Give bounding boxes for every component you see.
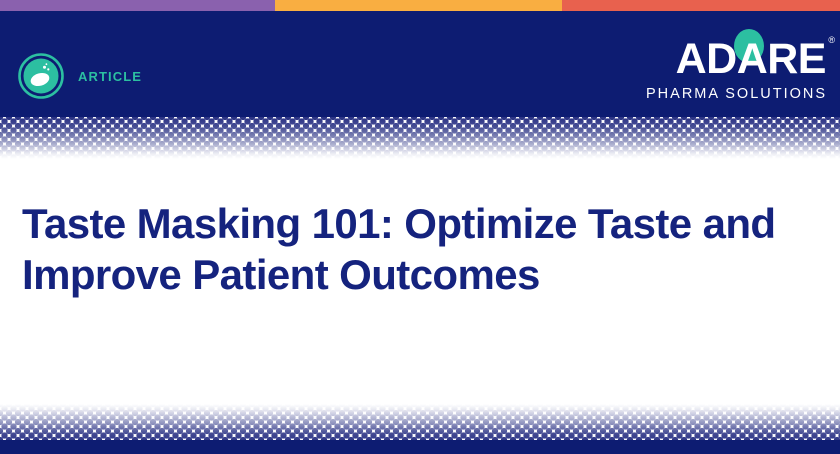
adare-wordmark: ADARE xyxy=(676,38,826,81)
adare-wordmark-group: ADARE ® xyxy=(646,35,826,81)
article-banner: ARTICLE ADARE ® PHARMA SOLUTIONS Taste M… xyxy=(0,0,840,454)
accent-segment-purple xyxy=(0,0,275,11)
title-block: Taste Masking 101: Optimize Taste and Im… xyxy=(22,198,822,300)
accent-segment-red xyxy=(562,0,840,11)
halftone-pattern-bottom xyxy=(0,404,840,442)
adare-tagline: PHARMA SOLUTIONS xyxy=(646,86,826,102)
registered-trademark-icon: ® xyxy=(828,35,835,45)
page-title: Taste Masking 101: Optimize Taste and Im… xyxy=(22,198,822,300)
article-badge: ARTICLE xyxy=(18,53,142,99)
footer-bar xyxy=(0,440,840,454)
adare-logo[interactable]: ADARE ® PHARMA SOLUTIONS xyxy=(646,35,826,102)
halftone-pattern-top xyxy=(0,117,840,159)
accent-bar xyxy=(0,0,840,11)
tablet-pill-icon xyxy=(18,53,64,99)
header-bar: ARTICLE ADARE ® PHARMA SOLUTIONS xyxy=(0,11,840,117)
accent-segment-orange xyxy=(275,0,562,11)
article-badge-label: ARTICLE xyxy=(78,69,142,84)
